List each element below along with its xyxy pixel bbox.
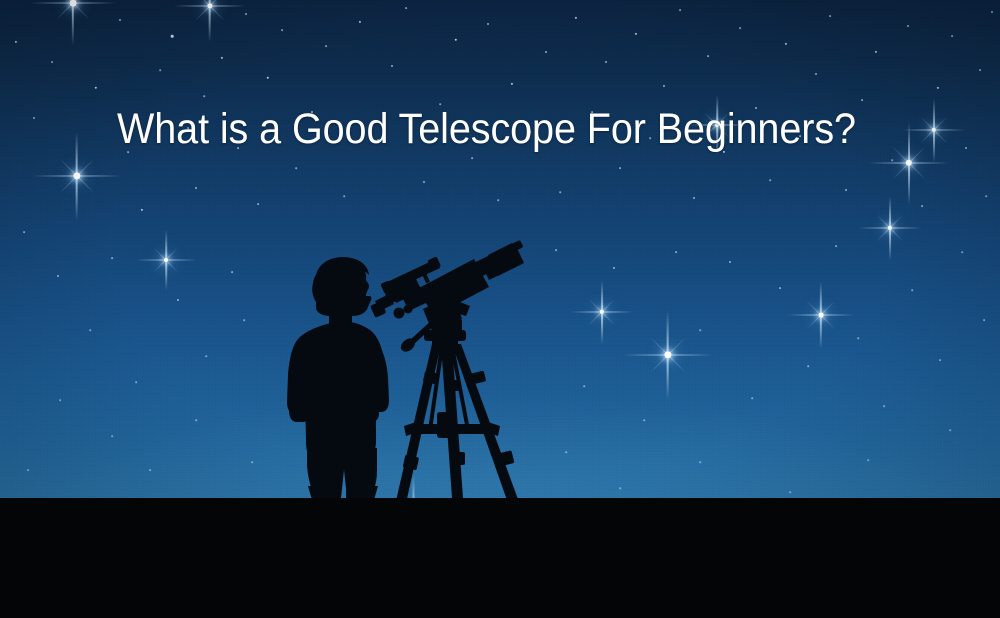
star <box>149 469 151 471</box>
star <box>583 385 585 387</box>
bright-star <box>932 128 936 132</box>
star <box>119 19 121 21</box>
star <box>875 51 877 53</box>
star <box>785 43 787 45</box>
star <box>359 21 361 23</box>
star <box>231 271 233 273</box>
star <box>15 41 17 43</box>
star <box>739 27 741 29</box>
star <box>769 179 771 181</box>
star <box>27 469 29 471</box>
page-title: What is a Good Telescope For Beginners? <box>117 103 856 155</box>
star <box>779 287 781 289</box>
star <box>559 191 561 193</box>
star <box>613 267 615 269</box>
bright-star <box>600 310 604 314</box>
star <box>565 451 567 453</box>
bright-star <box>70 0 77 6</box>
star <box>857 337 859 339</box>
bright-star <box>164 258 168 262</box>
hero-banner: What is a Good Telescope For Beginners? <box>0 0 1000 618</box>
star <box>195 187 197 189</box>
star <box>845 189 847 191</box>
star <box>979 69 981 71</box>
star <box>991 11 993 13</box>
star <box>829 15 831 17</box>
star <box>949 429 951 431</box>
star <box>487 23 489 25</box>
star <box>907 25 909 27</box>
star <box>619 487 621 489</box>
bright-star <box>207 3 212 8</box>
star <box>511 83 513 85</box>
star <box>891 159 893 161</box>
star <box>33 117 35 119</box>
bright-star <box>906 160 912 166</box>
star <box>635 33 637 35</box>
star <box>729 261 731 263</box>
star <box>965 147 967 149</box>
star <box>921 205 923 207</box>
star <box>111 435 113 437</box>
star <box>343 195 345 197</box>
star <box>663 85 665 87</box>
star <box>57 275 59 277</box>
star <box>883 405 885 407</box>
star <box>171 35 174 38</box>
star <box>257 203 259 205</box>
star <box>693 197 695 199</box>
star <box>243 319 245 321</box>
star <box>699 461 701 463</box>
star <box>807 365 809 367</box>
star <box>89 329 91 331</box>
star <box>497 199 499 201</box>
bright-star <box>819 313 824 318</box>
star <box>405 7 407 9</box>
star <box>391 65 393 67</box>
star <box>675 251 677 253</box>
star <box>423 181 425 183</box>
star <box>135 381 137 383</box>
star <box>679 9 681 11</box>
star <box>983 319 985 321</box>
star <box>267 77 269 79</box>
star <box>861 99 863 101</box>
bright-star <box>73 172 80 179</box>
star <box>251 461 253 463</box>
star <box>203 95 205 97</box>
star <box>455 39 457 41</box>
star <box>619 167 621 169</box>
star <box>575 17 577 19</box>
star <box>815 73 817 75</box>
star <box>245 13 247 15</box>
star <box>939 359 941 361</box>
star <box>141 209 143 211</box>
star <box>23 231 25 233</box>
star <box>605 61 607 63</box>
bright-star <box>888 226 892 230</box>
star <box>159 69 161 71</box>
star <box>471 157 473 159</box>
star <box>751 397 753 399</box>
star <box>281 29 283 31</box>
star <box>59 399 61 401</box>
star <box>699 329 701 331</box>
star <box>555 249 557 251</box>
star <box>111 257 113 259</box>
star <box>205 355 207 357</box>
star <box>911 289 913 291</box>
star <box>325 45 327 47</box>
star <box>789 491 791 493</box>
star <box>95 87 97 89</box>
ground-mass <box>0 498 1000 618</box>
star <box>961 251 963 253</box>
star <box>195 419 197 421</box>
star <box>545 51 547 53</box>
star <box>867 459 869 461</box>
star <box>177 299 179 301</box>
star <box>707 55 709 57</box>
star <box>295 167 297 169</box>
star <box>951 35 953 37</box>
star <box>937 87 939 89</box>
star <box>835 245 837 247</box>
bright-star <box>664 351 671 358</box>
star <box>51 61 53 63</box>
star <box>221 57 223 59</box>
star <box>643 419 645 421</box>
star <box>985 195 987 197</box>
